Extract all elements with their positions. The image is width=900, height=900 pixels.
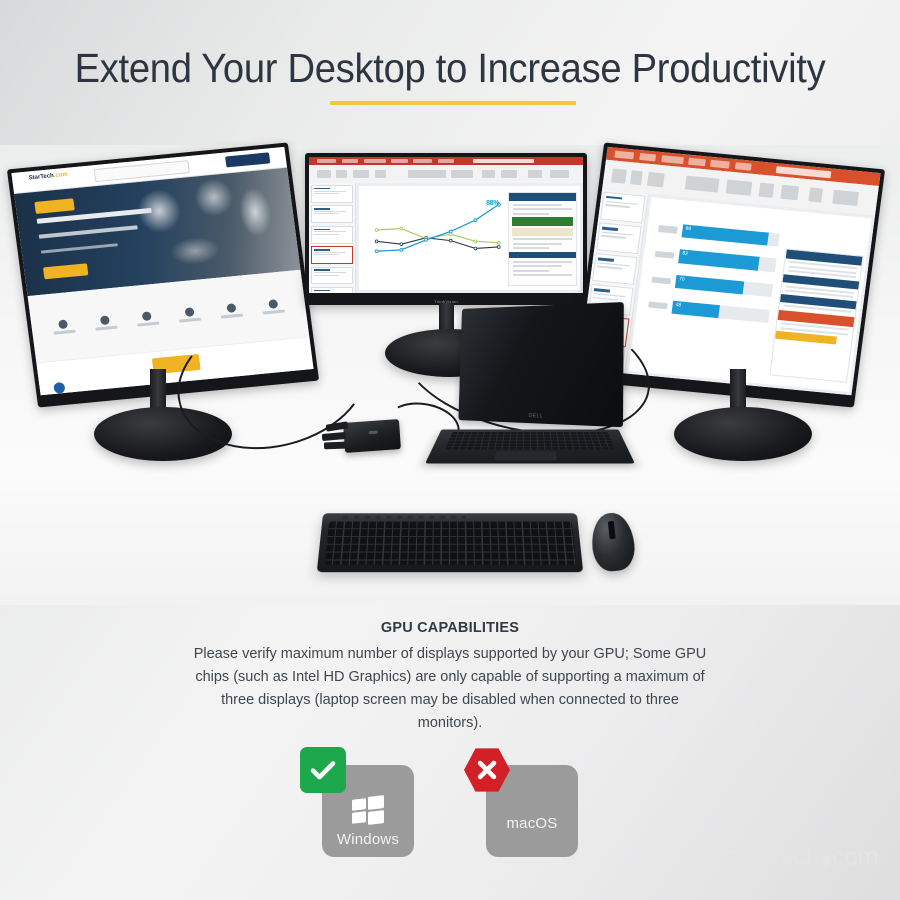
ppt-slide-canvas-right: 88 82 (628, 197, 871, 392)
os-tile-macos: macOS (486, 765, 578, 857)
chat-bubble-icon[interactable] (53, 382, 65, 394)
watermark-dot (820, 855, 831, 866)
monitor-center-screen: 88% (309, 157, 583, 293)
bar-label (654, 251, 674, 259)
bar-track: 88 (681, 224, 780, 247)
title-accent-rule (330, 101, 576, 105)
slide-thumbnail[interactable] (596, 222, 641, 254)
os-label-macos: macOS (506, 815, 557, 832)
ppt-workspace-center: 88% (309, 183, 583, 293)
category-item[interactable] (52, 319, 76, 335)
site-logo: StarTech.com (28, 172, 68, 182)
slide-thumbnail[interactable] (311, 185, 353, 203)
bar-track: 70 (675, 275, 774, 298)
bar-label (658, 225, 678, 233)
hero-subline (39, 226, 138, 239)
category-item[interactable] (219, 303, 243, 319)
bar-row: 48 (647, 295, 771, 326)
bar-track: 48 (671, 300, 770, 323)
keyboard[interactable] (317, 513, 583, 572)
keyboard-function-row[interactable] (343, 516, 465, 519)
windows-logo-icon (351, 795, 385, 825)
check-icon (300, 747, 346, 793)
monitor-center-panel: 88% (305, 153, 587, 305)
category-item[interactable] (177, 307, 201, 323)
hero-tagline (41, 243, 118, 253)
page-title: Extend Your Desktop to Increase Producti… (32, 42, 869, 94)
ppt-ribbon-center (309, 165, 583, 184)
dock-plug (324, 442, 346, 450)
gpu-capabilities-note: GPU CAPABILITIES Please verify maximum n… (0, 620, 900, 735)
bar-label (651, 276, 671, 284)
ppt-slide-canvas-center: 88% (359, 186, 580, 290)
bar-fill: 82 (678, 250, 759, 271)
slide-thumbnail-selected[interactable] (311, 246, 353, 264)
usb-dock (343, 419, 401, 453)
series-3-line (377, 238, 499, 249)
slide-thumbnail-rail-center[interactable] (309, 183, 356, 293)
caption-heading: GPU CAPABILITIES (0, 620, 900, 636)
product-photo-scene: StarTech.com (0, 145, 900, 605)
note-green-block (512, 217, 573, 226)
startech-watermark: StarTechcom (724, 843, 879, 872)
category-item[interactable] (93, 315, 117, 331)
slide-thumbnail[interactable] (311, 267, 353, 285)
slide-notes-pane-right (770, 249, 864, 384)
bar-fill: 70 (675, 275, 745, 295)
slide-thumbnail[interactable] (311, 205, 353, 223)
slide-thumbnail[interactable] (592, 253, 637, 285)
note-tan-block (512, 228, 573, 235)
laptop-keys[interactable] (446, 432, 615, 449)
cross-icon (464, 747, 510, 793)
laptop-brand: DELL (459, 410, 623, 422)
category-item[interactable] (135, 311, 159, 327)
laptop-keyboard-deck (425, 429, 635, 463)
page-root: Extend Your Desktop to Increase Producti… (0, 0, 900, 900)
os-label-windows: Windows (337, 831, 399, 848)
keyboard-keys[interactable] (324, 521, 576, 565)
note-header-bar (509, 193, 575, 201)
watermark-text-after: com (832, 843, 878, 871)
bar-track: 82 (678, 250, 777, 273)
chart-callout-88: 88% (486, 200, 499, 207)
line-chart-svg (367, 196, 504, 267)
slide-thumbnail[interactable] (311, 287, 353, 293)
caption-body: Please verify maximum number of displays… (190, 643, 710, 735)
os-tile-windows: Windows (322, 765, 414, 857)
line-chart: 88% (367, 196, 504, 267)
bar-label (648, 302, 668, 310)
bar-fill: 48 (671, 300, 719, 318)
ppt-tab-bar-center (309, 157, 583, 165)
series-1-line (377, 205, 499, 252)
series-1-points (376, 203, 501, 253)
laptop-screen: DELL (458, 302, 623, 427)
hero-cta-top[interactable] (35, 199, 75, 214)
slide-thumbnail[interactable] (600, 191, 645, 223)
site-nav-button[interactable] (225, 152, 270, 167)
laptop-trackpad[interactable] (495, 451, 557, 460)
slide-notes-pane-center (508, 192, 576, 286)
slide-thumbnail[interactable] (311, 226, 353, 244)
bar-chart: 88 82 (645, 219, 780, 339)
watermark-text-before: StarTech (724, 843, 819, 871)
note-subheader-bar (509, 252, 575, 258)
monitor-right-base (674, 407, 812, 461)
hero-cta-bottom[interactable] (43, 264, 88, 279)
bar-fill: 88 (681, 224, 768, 245)
